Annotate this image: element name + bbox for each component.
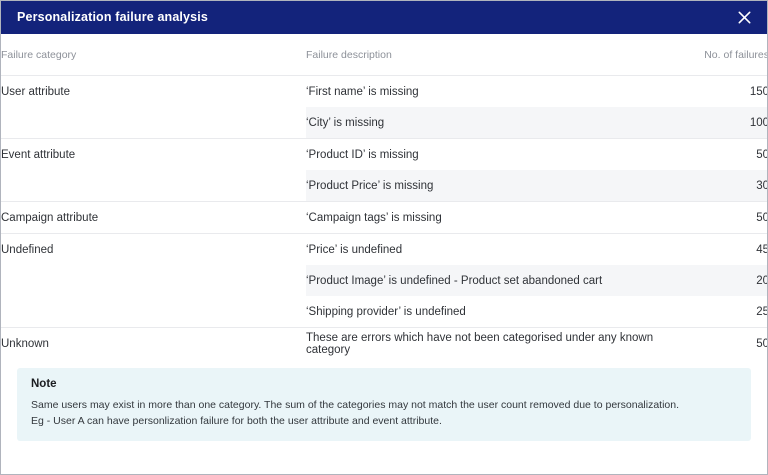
cell-no-of-failures: 25: [686, 296, 768, 328]
note-line: Eg - User A can have personlization fail…: [31, 413, 737, 429]
cell-failure-category: Undefined: [1, 234, 306, 266]
table-row: Campaign attribute‘Campaign tags’ is mis…: [1, 202, 768, 234]
cell-failure-description: ‘Shipping provider’ is undefined: [306, 296, 686, 328]
note-title: Note: [31, 378, 737, 390]
cell-failure-category: [1, 296, 306, 328]
table-row: ‘Shipping provider’ is undefined25: [1, 296, 768, 328]
note-box: Note Same users may exist in more than o…: [17, 368, 751, 441]
close-icon: [738, 11, 751, 24]
table-body: User attribute‘First name’ is missing150…: [1, 76, 768, 360]
cell-failure-description: These are errors which have not been cat…: [306, 328, 686, 360]
page-title: Personalization failure analysis: [17, 11, 208, 24]
table-row: UnknownThese are errors which have not b…: [1, 328, 768, 360]
cell-no-of-failures: 150: [686, 76, 768, 108]
failure-table-container: Failure category Failure description No.…: [1, 34, 767, 359]
note-line: Same users may exist in more than one ca…: [31, 397, 737, 413]
cell-failure-description: ‘Product Price’ is missing: [306, 170, 686, 202]
table-row: Event attribute‘Product ID’ is missing50: [1, 139, 768, 171]
cell-no-of-failures: 100: [686, 107, 768, 139]
table-row: ‘Product Image’ is undefined - Product s…: [1, 265, 768, 296]
column-header-failure-description: Failure description: [306, 34, 686, 76]
cell-failure-category: Event attribute: [1, 139, 306, 171]
column-header-failure-category: Failure category: [1, 34, 306, 76]
table-row: ‘Product Price’ is missing30: [1, 170, 768, 202]
cell-failure-category: [1, 107, 306, 139]
table-row: ‘City’ is missing100: [1, 107, 768, 139]
failure-analysis-table: Failure category Failure description No.…: [1, 34, 768, 359]
cell-failure-category: Unknown: [1, 328, 306, 360]
cell-failure-description: ‘Price’ is undefined: [306, 234, 686, 266]
modal-header: Personalization failure analysis: [1, 1, 767, 34]
cell-failure-category: [1, 170, 306, 202]
cell-failure-description: ‘Product ID’ is missing: [306, 139, 686, 171]
cell-no-of-failures: 20: [686, 265, 768, 296]
note-area: Note Same users may exist in more than o…: [1, 359, 767, 441]
cell-failure-description: ‘Product Image’ is undefined - Product s…: [306, 265, 686, 296]
cell-no-of-failures: 45: [686, 234, 768, 266]
table-row: Undefined‘Price’ is undefined45: [1, 234, 768, 266]
cell-failure-description: ‘Campaign tags’ is missing: [306, 202, 686, 234]
cell-no-of-failures: 50: [686, 139, 768, 171]
cell-failure-category: [1, 265, 306, 296]
cell-no-of-failures: 50: [686, 202, 768, 234]
cell-no-of-failures: 30: [686, 170, 768, 202]
table-row: User attribute‘First name’ is missing150: [1, 76, 768, 108]
cell-failure-description: ‘City’ is missing: [306, 107, 686, 139]
column-header-no-of-failures: No. of failures: [686, 34, 768, 76]
cell-failure-category: Campaign attribute: [1, 202, 306, 234]
cell-failure-category: User attribute: [1, 76, 306, 108]
close-button[interactable]: [733, 7, 755, 29]
table-header-row: Failure category Failure description No.…: [1, 34, 768, 76]
personalization-failure-analysis-modal: Personalization failure analysis Failure…: [0, 0, 768, 475]
cell-no-of-failures: 50: [686, 328, 768, 360]
cell-failure-description: ‘First name’ is missing: [306, 76, 686, 108]
